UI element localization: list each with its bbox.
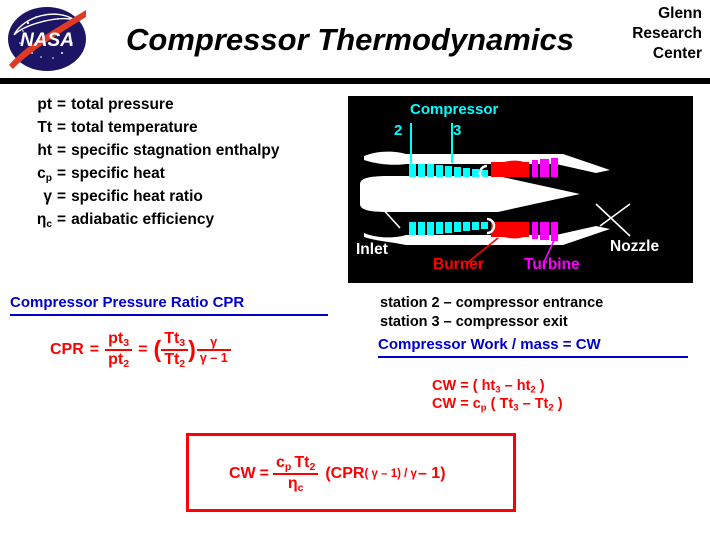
equals-sign: =: [460, 396, 468, 412]
equals-sign: =: [57, 96, 66, 114]
equals-sign: =: [57, 119, 66, 137]
turbojet-engine-diagram: Compressor 2 3 Inlet Burner Turbine Nozz…: [348, 96, 693, 283]
cp-tt2-over-eta-fraction: cpTt2 ηc: [273, 454, 318, 494]
definition: adiabatic efficiency: [71, 211, 214, 229]
tt-symbol: Tt: [294, 454, 309, 471]
pt-symbol: pt: [108, 330, 123, 347]
equals-sign: =: [57, 211, 66, 229]
cpr-section-heading: Compressor Pressure Ratio CPR: [10, 294, 244, 311]
list-item: pt = total pressure: [22, 96, 342, 119]
paren-open: (: [153, 336, 161, 363]
symbol: ηc: [22, 211, 52, 230]
cpr-exponent: ( γ – 1) / γ: [364, 468, 416, 480]
pressure-ratio-fraction: pt3 pt2: [105, 330, 132, 370]
cw-enthalpy-equation: CW = ( ht3 – ht2 ): [432, 378, 545, 396]
subscript: 3: [123, 337, 129, 349]
equals-sign: =: [260, 465, 269, 483]
equals-sign: =: [57, 142, 66, 160]
list-item: cp = specific heat: [22, 165, 342, 188]
turbine-label: Turbine: [524, 256, 580, 274]
eta-symbol: η: [288, 475, 298, 492]
subscript: c: [298, 482, 304, 494]
page-title: Compressor Thermodynamics: [110, 22, 590, 58]
station-2-label: 2: [394, 122, 402, 139]
numerator: cpTt2: [273, 454, 318, 475]
subscript: 3: [179, 337, 185, 349]
list-item: ηc = adiabatic efficiency: [22, 211, 342, 234]
cw-heading-underline: [378, 356, 688, 358]
station-definitions: station 2 – compressor entrance station …: [380, 294, 603, 331]
list-item: γ = specific heat ratio: [22, 188, 342, 211]
symbol-subscript: c: [46, 219, 52, 230]
nozzle-label: Nozzle: [610, 238, 659, 256]
tt3-symbol: Tt: [500, 396, 514, 412]
paren-open: (: [473, 378, 478, 394]
exponent-numerator: γ: [197, 335, 231, 351]
exponent-denominator: γ – 1: [197, 351, 231, 365]
subscript: 2: [530, 385, 535, 396]
cpr-formula: CPR = pt3 pt2 = ( Tt3 Tt2 ) γ γ – 1: [50, 330, 231, 370]
pt-symbol: pt: [108, 351, 123, 368]
ht2-symbol: ht: [517, 378, 531, 394]
symbol: γ: [22, 188, 52, 206]
definition: specific heat ratio: [71, 188, 203, 206]
cw-temperature-equation: CW = cp ( Tt3 – Tt2 ): [432, 396, 563, 414]
subscript: 3: [513, 403, 518, 414]
minus-one: – 1: [418, 465, 440, 483]
station-2-definition: station 2 – compressor entrance: [380, 294, 603, 313]
cpr-heading-underline: [10, 314, 328, 316]
subscript: 2: [179, 358, 185, 370]
equals-sign-2: =: [138, 341, 147, 359]
cp-symbol: c: [276, 454, 285, 471]
denominator: pt2: [105, 351, 132, 370]
nasa-logotype: NASA: [20, 30, 74, 51]
cw-lhs: CW: [432, 378, 456, 394]
minus-sign: –: [523, 396, 531, 412]
symbol: pt: [22, 96, 52, 114]
paren-close: ): [540, 378, 545, 394]
paren-close: ): [558, 396, 563, 412]
inlet-label: Inlet: [356, 241, 388, 259]
equals-sign: =: [57, 165, 66, 183]
list-item: Tt = total temperature: [22, 119, 342, 142]
burner-label: Burner: [433, 256, 484, 274]
equals-sign: =: [90, 341, 99, 359]
final-equation: CW = cpTt2 ηc ( CPR ( γ – 1) / γ – 1 ): [229, 454, 446, 494]
ht3-symbol: ht: [482, 378, 496, 394]
organization-name: Glenn Research Center: [597, 4, 702, 64]
subscript: 2: [548, 403, 553, 414]
subscript: 2: [309, 461, 315, 473]
cw-section-heading: Compressor Work / mass = CW: [378, 336, 601, 353]
final-equation-box: CW = cpTt2 ηc ( CPR ( γ – 1) / γ – 1 ): [186, 433, 516, 512]
tt2-symbol: Tt: [535, 396, 549, 412]
cpr-symbol: CPR: [331, 465, 365, 483]
definition: specific stagnation enthalpy: [71, 142, 279, 160]
symbol: ht: [22, 142, 52, 160]
org-line-2: Research: [597, 24, 702, 44]
symbol: cp: [22, 165, 52, 184]
temperature-ratio-fraction: Tt3 Tt2: [161, 330, 188, 370]
denominator: Tt2: [161, 351, 188, 370]
paren-close: ): [188, 336, 196, 363]
station-3-label: 3: [453, 122, 461, 139]
symbol-subscript: p: [46, 173, 52, 184]
header-divider: [0, 78, 710, 84]
tt-symbol: Tt: [164, 330, 179, 347]
cw-lhs: CW: [432, 396, 456, 412]
definition: total pressure: [71, 96, 174, 114]
symbol: Tt: [22, 119, 52, 137]
symbol-base: η: [37, 211, 46, 228]
list-item: ht = specific stagnation enthalpy: [22, 142, 342, 165]
numerator: Tt3: [161, 330, 188, 351]
station-2-tick: [410, 123, 412, 163]
tt-symbol: Tt: [164, 351, 179, 368]
equals-sign: =: [460, 378, 468, 394]
paren-close: ): [440, 465, 445, 483]
cp-symbol: c: [473, 396, 481, 412]
numerator: pt3: [105, 330, 132, 351]
station-3-definition: station 3 – compressor exit: [380, 313, 603, 332]
subscript: p: [481, 403, 487, 414]
cw-lhs: CW: [229, 465, 256, 483]
compressor-label: Compressor: [410, 101, 498, 118]
definition: specific heat: [71, 165, 165, 183]
nomenclature-list: pt = total pressure Tt = total temperatu…: [22, 96, 342, 234]
definition: total temperature: [71, 119, 198, 137]
exponent-fraction: γ γ – 1: [197, 335, 231, 365]
org-line-3: Center: [597, 44, 702, 64]
equals-sign: =: [57, 188, 66, 206]
org-line-1: Glenn: [597, 4, 702, 24]
cpr-lhs: CPR: [50, 341, 84, 359]
subscript: 2: [123, 358, 129, 370]
subscript: p: [285, 461, 291, 473]
denominator: ηc: [273, 475, 318, 494]
subscript: 3: [495, 385, 500, 396]
paren-open: (: [491, 396, 496, 412]
symbol-base: c: [37, 165, 46, 182]
nasa-logo: NASA: [6, 5, 88, 73]
minus-sign: –: [505, 378, 513, 394]
